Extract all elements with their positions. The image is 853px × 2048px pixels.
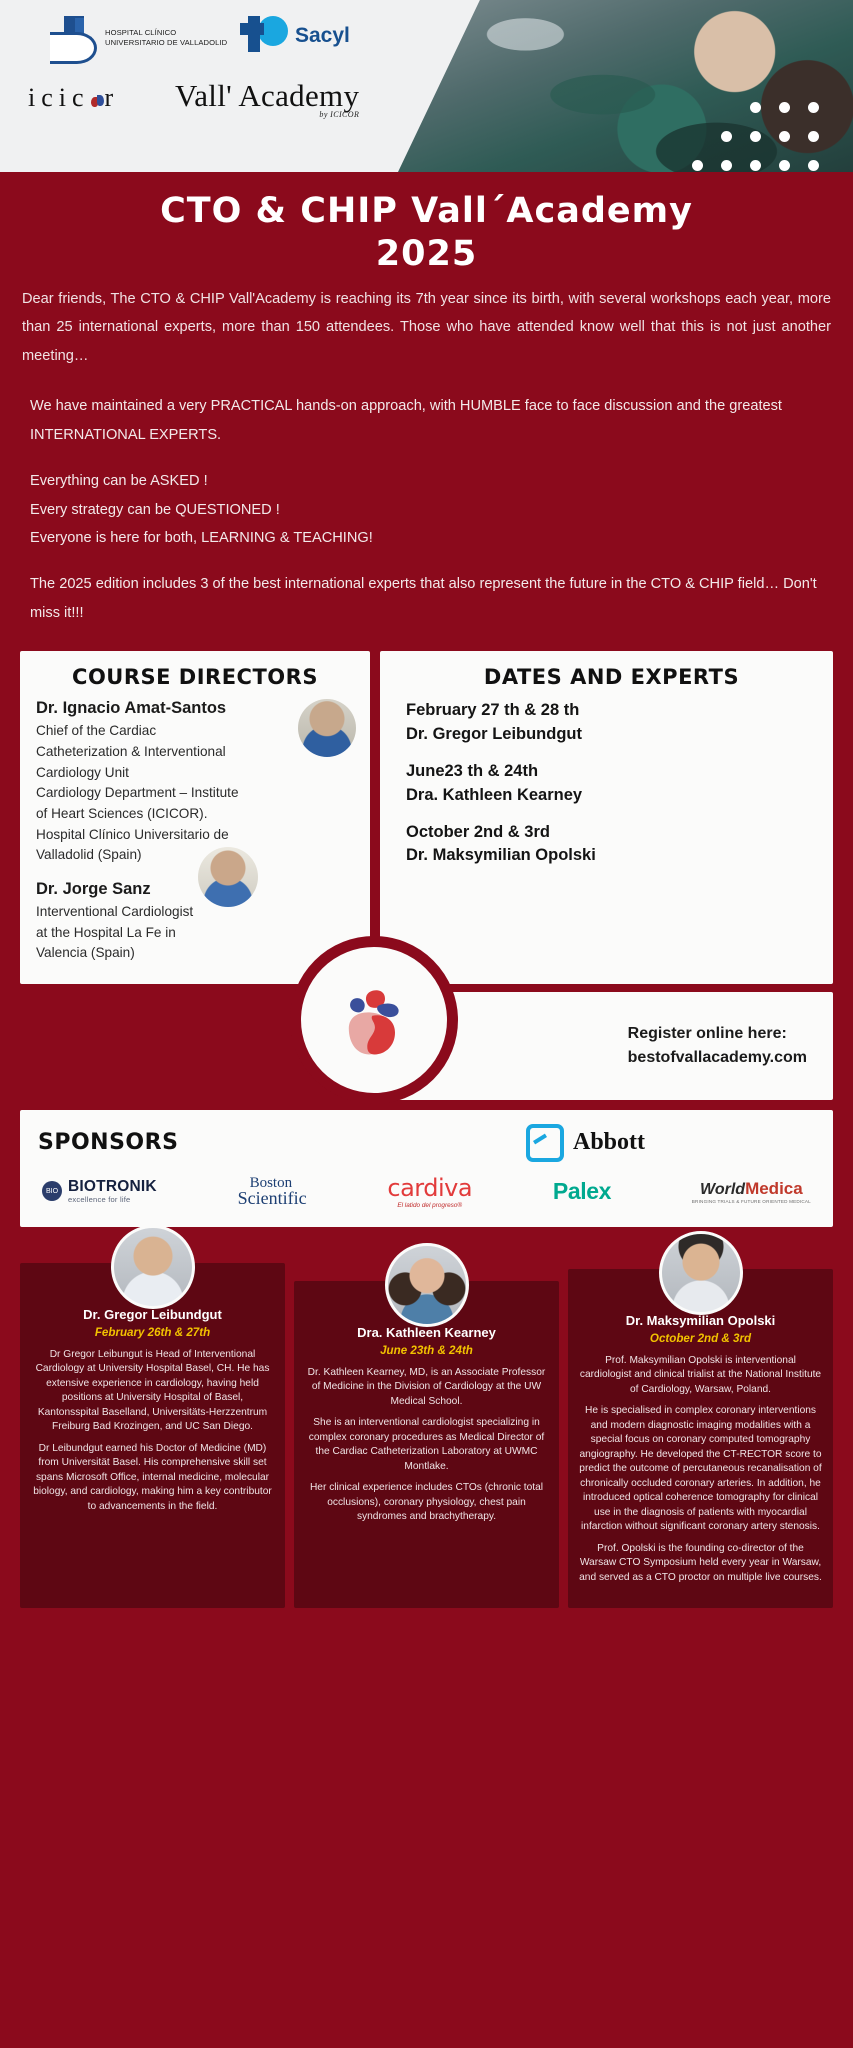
expert-name: Dr. Gregor Leibundgut bbox=[406, 723, 817, 746]
speaker-date: October 2nd & 3rd bbox=[579, 1332, 822, 1345]
date-entry-3: October 2nd & 3rd Dr. Maksymilian Opolsk… bbox=[406, 821, 817, 868]
abbott-wordmark: Abbott bbox=[573, 1129, 645, 1156]
intro-statements: Everything can be ASKED ! Every strategy… bbox=[22, 467, 831, 552]
speaker-bio-text: Prof. Maksymilian Opolski is interventio… bbox=[579, 1354, 822, 1585]
speaker-bio-card: Dra. Kathleen Kearney June 23th & 24th D… bbox=[294, 1281, 559, 1608]
director-line: Hospital Clínico Universitario de bbox=[36, 825, 354, 846]
hospital-clinico-mark-icon bbox=[50, 16, 96, 60]
worldmedica-tagline: BRINGING TRIALS & FUTURE ORIENTED MEDICA… bbox=[692, 1199, 811, 1204]
course-directors-heading: COURSE DIRECTORS bbox=[36, 665, 354, 689]
info-cards-row: COURSE DIRECTORS Dr. Ignacio Amat-Santos… bbox=[0, 645, 853, 984]
bio-paragraph: Prof. Maksymilian Opolski is interventio… bbox=[579, 1354, 822, 1397]
intro-section: Dear friends, The CTO & CHIP Vall'Academ… bbox=[0, 281, 853, 628]
decorative-dot-grid bbox=[692, 102, 837, 172]
sponsor-logo-palex: Palex bbox=[553, 1178, 611, 1205]
speaker-name: Dr. Gregor Leibundgut bbox=[31, 1307, 274, 1324]
logo-vall-academy: Vall' Academy by ICICOR bbox=[175, 78, 359, 119]
director-line: Catheterization & Interventional bbox=[36, 742, 354, 763]
avatar-kathleen-kearney bbox=[385, 1243, 469, 1327]
sponsor-logo-cardiva: cardiva El latido del progreso® bbox=[387, 1174, 472, 1209]
director-line: Valencia (Spain) bbox=[36, 943, 354, 964]
register-row: Register online here: bestofvallacademy.… bbox=[0, 984, 853, 1100]
speaker-bio-card: Dr. Gregor Leibundgut February 26th & 27… bbox=[20, 1263, 285, 1608]
sacyl-wordmark: Sacyl bbox=[295, 24, 350, 48]
register-url[interactable]: bestofvallacademy.com bbox=[628, 1046, 807, 1070]
avatar-maksymilian-opolski bbox=[659, 1231, 743, 1315]
cardiva-tagline: El latido del progreso® bbox=[397, 1202, 462, 1209]
bio-paragraph: She is an interventional cardiologist sp… bbox=[305, 1416, 548, 1474]
expert-name: Dr. Maksymilian Opolski bbox=[406, 844, 817, 867]
avatar-gregor-leibundgut bbox=[111, 1225, 195, 1309]
director-line: Valladolid (Spain) bbox=[36, 845, 354, 866]
sponsor-logo-worldmedica: World Medica BRINGING TRIALS & FUTURE OR… bbox=[692, 1179, 811, 1204]
director-line: Cardiology Department – Institute bbox=[36, 783, 354, 804]
heart-logo-badge bbox=[290, 936, 458, 1104]
speaker-date: February 26th & 27th bbox=[31, 1326, 274, 1339]
bio-paragraph: Dr. Kathleen Kearney, MD, is an Associat… bbox=[305, 1366, 548, 1409]
abbott-mark-icon bbox=[526, 1124, 564, 1162]
director-line: Cardiology Unit bbox=[36, 763, 354, 784]
speaker-bio-text: Dr. Kathleen Kearney, MD, is an Associat… bbox=[305, 1366, 548, 1525]
speaker-bios-row: Dr. Gregor Leibundgut February 26th & 27… bbox=[0, 1227, 853, 1624]
speaker-name: Dra. Kathleen Kearney bbox=[305, 1325, 548, 1342]
director-line: of Heart Sciences (ICICOR). bbox=[36, 804, 354, 825]
sponsor-logo-boston-scientific: Boston Scientific bbox=[238, 1176, 307, 1208]
director-line: at the Hospital La Fe in bbox=[36, 923, 354, 944]
intro-paragraph-2: We have maintained a very PRACTICAL hand… bbox=[22, 392, 831, 449]
speaker-date: June 23th & 24th bbox=[305, 1344, 548, 1357]
dates-and-experts-card: DATES AND EXPERTS February 27 th & 28 th… bbox=[380, 651, 833, 984]
speaker-bio-text: Dr Gregor Leibungut is Head of Intervent… bbox=[31, 1348, 274, 1514]
page-title: CTO & CHIP Vall´Academy 2025 bbox=[0, 190, 853, 277]
course-directors-card: COURSE DIRECTORS Dr. Ignacio Amat-Santos… bbox=[20, 651, 370, 984]
biotronik-tagline: excellence for life bbox=[68, 1195, 157, 1204]
director-line: Chief of the Cardiac bbox=[36, 721, 354, 742]
register-text: Register online here: bestofvallacademy.… bbox=[628, 1022, 807, 1070]
title-line-1: CTO & CHIP Vall´Academy bbox=[160, 191, 693, 231]
header-logos-band: HOSPITAL CLÍNICO UNIVERSITARIO DE VALLAD… bbox=[0, 0, 853, 172]
vall-academy-wordmark: Vall' Academy bbox=[175, 78, 359, 114]
logo-hospital-clinico: HOSPITAL CLÍNICO UNIVERSITARIO DE VALLAD… bbox=[50, 16, 227, 60]
date-entry-1: February 27 th & 28 th Dr. Gregor Leibun… bbox=[406, 699, 817, 746]
director-line: Interventional Cardiologist bbox=[36, 902, 354, 923]
biotronik-mark-icon: BIO bbox=[42, 1181, 62, 1201]
dates-experts-heading: DATES AND EXPERTS bbox=[406, 665, 817, 689]
worldmedica-word-2: Medica bbox=[745, 1179, 803, 1199]
logo-icicor: icic r bbox=[28, 83, 119, 113]
speaker-name: Dr. Maksymilian Opolski bbox=[579, 1313, 822, 1330]
bio-paragraph: Her clinical experience includes CTOs (c… bbox=[305, 1481, 548, 1524]
sponsors-card: SPONSORS Abbott BIO BIOTRONIK excellence… bbox=[20, 1110, 833, 1227]
cardiva-wordmark: cardiva bbox=[387, 1174, 472, 1202]
icicor-text-post: r bbox=[105, 83, 120, 113]
date-entry-2: June23 th & 24th Dra. Kathleen Kearney bbox=[406, 760, 817, 807]
poster-root: HOSPITAL CLÍNICO UNIVERSITARIO DE VALLAD… bbox=[0, 0, 853, 2048]
register-label: Register online here: bbox=[628, 1022, 807, 1046]
director-entry-2: Dr. Jorge Sanz Interventional Cardiologi… bbox=[36, 880, 354, 964]
bio-paragraph: Dr Gregor Leibungut is Head of Intervent… bbox=[31, 1348, 274, 1435]
logo-group: HOSPITAL CLÍNICO UNIVERSITARIO DE VALLAD… bbox=[0, 0, 455, 172]
intro-paragraph-1: Dear friends, The CTO & CHIP Vall'Academ… bbox=[22, 285, 831, 370]
icicor-text-pre: icic bbox=[28, 83, 90, 113]
statement-questioned: Every strategy can be QUESTIONED ! bbox=[30, 496, 831, 524]
sacyl-cross-icon bbox=[240, 14, 288, 58]
logo-sacyl: Sacyl bbox=[240, 14, 350, 58]
anatomical-heart-icon bbox=[332, 978, 416, 1062]
bio-paragraph: Dr Leibundgut earned his Doctor of Medic… bbox=[31, 1442, 274, 1514]
director-name-2: Dr. Jorge Sanz bbox=[36, 880, 354, 899]
bio-paragraph: Prof. Opolski is the founding co-directo… bbox=[579, 1542, 822, 1585]
hospital-line-1: HOSPITAL CLÍNICO bbox=[105, 28, 227, 38]
expert-name: Dra. Kathleen Kearney bbox=[406, 784, 817, 807]
date-value: June23 th & 24th bbox=[406, 760, 817, 783]
date-value: October 2nd & 3rd bbox=[406, 821, 817, 844]
title-line-2: 2025 bbox=[40, 233, 813, 276]
boston-line-2: Scientific bbox=[238, 1190, 307, 1207]
hospital-line-2: UNIVERSITARIO DE VALLADOLID bbox=[105, 38, 227, 48]
date-value: February 27 th & 28 th bbox=[406, 699, 817, 722]
biotronik-wordmark: BIOTRONIK bbox=[68, 1179, 157, 1195]
statement-learning: Everyone is here for both, LEARNING & TE… bbox=[30, 524, 831, 552]
heart-icon bbox=[91, 95, 104, 108]
sponsor-logo-abbott: Abbott bbox=[526, 1124, 645, 1162]
worldmedica-word-1: World bbox=[700, 1181, 745, 1199]
director-name-1: Dr. Ignacio Amat-Santos bbox=[36, 699, 354, 718]
intro-paragraph-3: The 2025 edition includes 3 of the best … bbox=[22, 570, 831, 627]
director-entry-1: Dr. Ignacio Amat-Santos Chief of the Car… bbox=[36, 699, 354, 866]
hospital-clinico-wordmark: HOSPITAL CLÍNICO UNIVERSITARIO DE VALLAD… bbox=[105, 28, 227, 47]
sponsors-heading: SPONSORS bbox=[38, 1130, 178, 1155]
sponsors-top-row: SPONSORS Abbott bbox=[38, 1124, 815, 1168]
sponsors-logo-row: BIO BIOTRONIK excellence for life Boston… bbox=[38, 1168, 815, 1209]
statement-asked: Everything can be ASKED ! bbox=[30, 467, 831, 495]
title-block: CTO & CHIP Vall´Academy 2025 bbox=[0, 172, 853, 281]
speaker-bio-card: Dr. Maksymilian Opolski October 2nd & 3r… bbox=[568, 1269, 833, 1608]
sponsor-logo-biotronik: BIO BIOTRONIK excellence for life bbox=[42, 1179, 157, 1204]
bio-paragraph: He is specialised in complex coronary in… bbox=[579, 1404, 822, 1534]
